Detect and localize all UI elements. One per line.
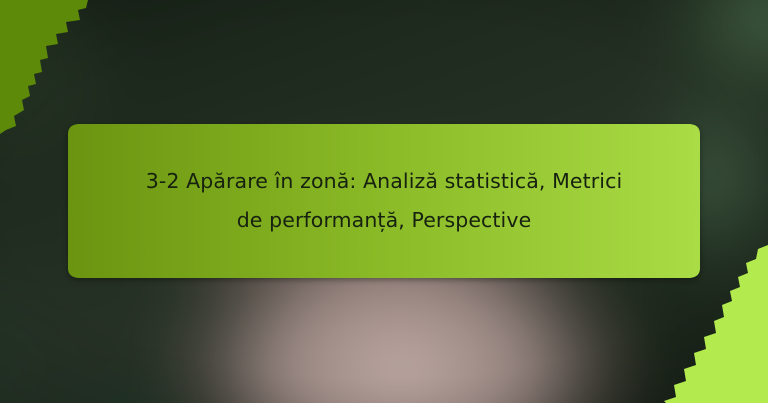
banner-title-line-1: 3-2 Apărare în zonă: Analiză statistică,… (146, 162, 623, 201)
featured-image-card: 3-2 Apărare în zonă: Analiză statistică,… (0, 0, 768, 403)
title-banner: 3-2 Apărare în zonă: Analiză statistică,… (68, 124, 700, 278)
banner-title-line-2: de performanță, Perspective (237, 201, 532, 240)
banner-title: 3-2 Apărare în zonă: Analiză statistică,… (68, 124, 700, 278)
